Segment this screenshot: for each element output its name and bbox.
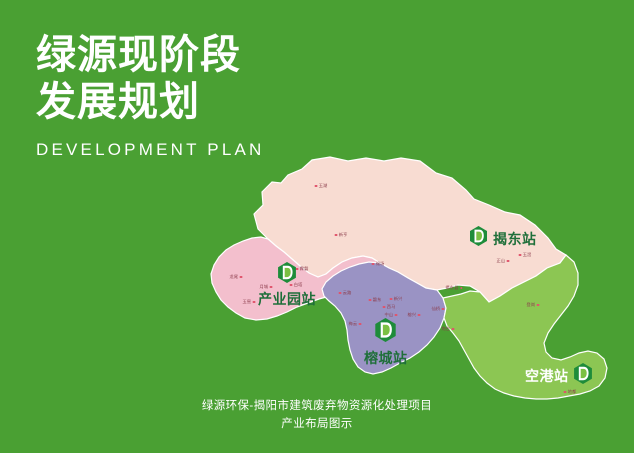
- city-label: 炮台: [442, 326, 451, 332]
- station-label: 产业园站: [258, 289, 316, 309]
- caption-line-1: 绿源环保-揭阳市建筑废弃物资源化处理项目: [0, 398, 634, 416]
- city-dot-icon: [390, 298, 393, 301]
- city-marker[interactable]: 登岗: [527, 302, 540, 308]
- city-label: 玉滘: [523, 252, 532, 258]
- leaf-hex-logo-icon: [375, 318, 396, 347]
- city-label: 西马: [387, 304, 396, 310]
- station-label: 榕城站: [364, 348, 408, 368]
- station-marker-chanyeyuan[interactable]: 产业园站: [258, 262, 316, 309]
- city-marker[interactable]: 西马: [383, 304, 396, 310]
- city-marker[interactable]: 新兴: [390, 296, 403, 302]
- city-label: 新兴: [394, 296, 403, 302]
- city-marker[interactable]: 磐东: [369, 297, 382, 303]
- city-marker[interactable]: 炮台: [442, 326, 455, 332]
- city-label: 玉窖: [243, 299, 252, 305]
- city-dot-icon: [383, 306, 386, 309]
- station-marker-rongcheng[interactable]: 榕城站: [364, 318, 408, 368]
- city-label: 登岗: [527, 302, 536, 308]
- city-label: 仙桥: [432, 306, 441, 312]
- city-label: 正山: [497, 258, 506, 264]
- leaf-hex-logo-icon: [470, 226, 487, 251]
- city-dot-icon: [418, 314, 421, 317]
- city-label: 磐东: [373, 297, 382, 303]
- city-dot-icon: [395, 314, 398, 317]
- title-line-2: 发展规划: [36, 79, 265, 126]
- city-marker[interactable]: 新亨: [335, 232, 348, 238]
- city-dot-icon: [372, 263, 375, 266]
- city-marker[interactable]: 云路: [339, 290, 352, 296]
- subtitle-english: DEVELOPMENT PLAN: [36, 140, 265, 160]
- city-dot-icon: [335, 234, 338, 237]
- city-dot-icon: [253, 301, 256, 304]
- city-label: 揭东县: [445, 285, 458, 291]
- station-marker-konggang[interactable]: 空港站: [525, 363, 592, 389]
- city-dot-icon: [339, 292, 342, 295]
- city-label: 云路: [343, 290, 352, 296]
- city-dot-icon: [519, 254, 522, 257]
- caption-line-2: 产业布局图示: [0, 416, 634, 434]
- city-dot-icon: [369, 299, 372, 302]
- city-label: 梅云: [349, 321, 358, 327]
- title-line-1: 绿源现阶段: [36, 32, 265, 79]
- city-marker[interactable]: 龙尾: [230, 274, 243, 280]
- city-label: 榕兴: [408, 312, 417, 318]
- city-label: 龙尾: [230, 274, 239, 280]
- city-marker[interactable]: 锡场: [372, 261, 385, 267]
- city-marker[interactable]: 正山: [497, 258, 510, 264]
- city-marker[interactable]: 玉滘: [519, 252, 532, 258]
- city-label: 新亨: [339, 232, 348, 238]
- city-dot-icon: [442, 308, 445, 311]
- city-dot-icon: [240, 276, 243, 279]
- city-dot-icon: [564, 391, 567, 394]
- city-label: 地都: [568, 389, 577, 395]
- development-plan-poster: 绿源现阶段 发展规划 DEVELOPMENT PLAN 揭东站 产业园站: [0, 0, 634, 453]
- city-marker[interactable]: 揭东县: [445, 285, 462, 291]
- city-marker[interactable]: 地都: [564, 389, 577, 395]
- title-block: 绿源现阶段 发展规划 DEVELOPMENT PLAN: [36, 32, 265, 160]
- station-label: 空港站: [525, 366, 569, 386]
- city-marker[interactable]: 仙桥: [432, 306, 445, 312]
- city-label: 玉湖: [319, 183, 328, 189]
- city-label: 锡场: [376, 261, 385, 267]
- leaf-hex-logo-icon: [278, 262, 296, 288]
- city-marker[interactable]: 玉窖: [243, 299, 256, 305]
- city-dot-icon: [537, 304, 540, 307]
- city-marker[interactable]: 榕兴: [408, 312, 421, 318]
- city-dot-icon: [315, 185, 318, 188]
- city-marker[interactable]: 玉湖: [315, 183, 328, 189]
- station-marker-jiedong[interactable]: 揭东站: [470, 226, 537, 251]
- station-label: 揭东站: [493, 229, 537, 249]
- city-dot-icon: [460, 287, 463, 290]
- city-marker[interactable]: 梅云: [349, 321, 362, 327]
- city-dot-icon: [359, 323, 362, 326]
- leaf-hex-logo-icon: [574, 363, 592, 389]
- city-dot-icon: [452, 328, 455, 331]
- city-dot-icon: [507, 260, 510, 263]
- caption-block: 绿源环保-揭阳市建筑废弃物资源化处理项目 产业布局图示: [0, 398, 634, 434]
